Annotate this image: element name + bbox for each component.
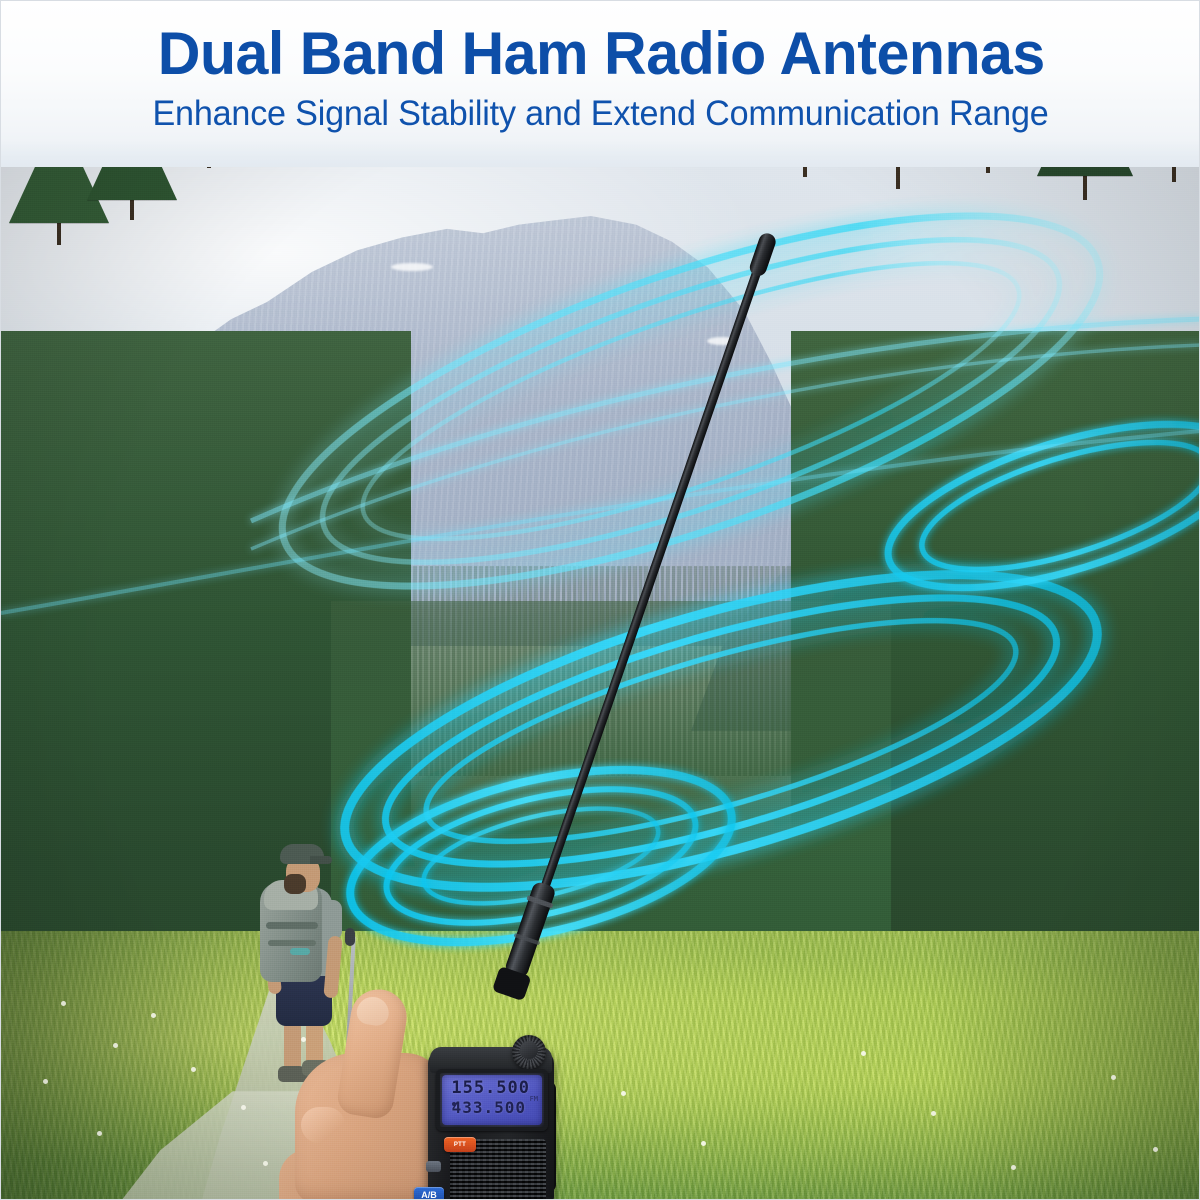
page-title: Dual Band Ham Radio Antennas	[157, 23, 1044, 85]
wildflower	[1111, 1075, 1116, 1080]
volume-knob-top[interactable]	[520, 1041, 538, 1059]
wildflower	[263, 1161, 268, 1166]
wildflower	[97, 1131, 102, 1136]
wildflower	[241, 1105, 246, 1110]
ab-button-label: A/B	[421, 1190, 437, 1200]
wildflower	[861, 1051, 866, 1056]
wildflower	[151, 1013, 156, 1018]
hiker-sleeve	[320, 900, 342, 940]
lcd-bezel	[436, 1069, 548, 1131]
ptt-button-label: PTT	[454, 1142, 466, 1148]
wildflower	[701, 1141, 706, 1146]
header-banner: Dual Band Ham Radio Antennas Enhance Sig…	[1, 1, 1200, 167]
backpack-strap	[266, 922, 318, 929]
wildflower	[1153, 1147, 1158, 1152]
hiker-hair	[284, 874, 306, 894]
trekking-pole-grip	[345, 928, 355, 946]
wildflower	[191, 1067, 196, 1072]
wildflower	[621, 1091, 626, 1096]
side-button[interactable]	[426, 1161, 441, 1172]
meadow-shadow-right	[841, 931, 1200, 1200]
wildflower	[931, 1111, 936, 1116]
backpack-accent	[290, 948, 310, 955]
ptt-button[interactable]: PTT	[444, 1137, 476, 1152]
page-subtitle: Enhance Signal Stability and Extend Comm…	[153, 94, 1049, 134]
outdoor-scene: 155.500 433.500 FM PTT A/B	[1, 1, 1200, 1200]
wildflower	[43, 1079, 48, 1084]
hiker-cap-brim	[310, 856, 332, 864]
wildflower	[61, 1001, 66, 1006]
backpack-strap	[268, 940, 316, 946]
wildflower	[1011, 1165, 1016, 1170]
handheld-radio[interactable]: 155.500 433.500 FM PTT A/B	[406, 1021, 566, 1200]
ab-button[interactable]: A/B	[414, 1187, 444, 1200]
knuckle-highlight	[301, 1107, 345, 1143]
wildflower	[113, 1043, 118, 1048]
product-marketing-poster: 155.500 433.500 FM PTT A/B Dual Band Ham…	[0, 0, 1200, 1200]
